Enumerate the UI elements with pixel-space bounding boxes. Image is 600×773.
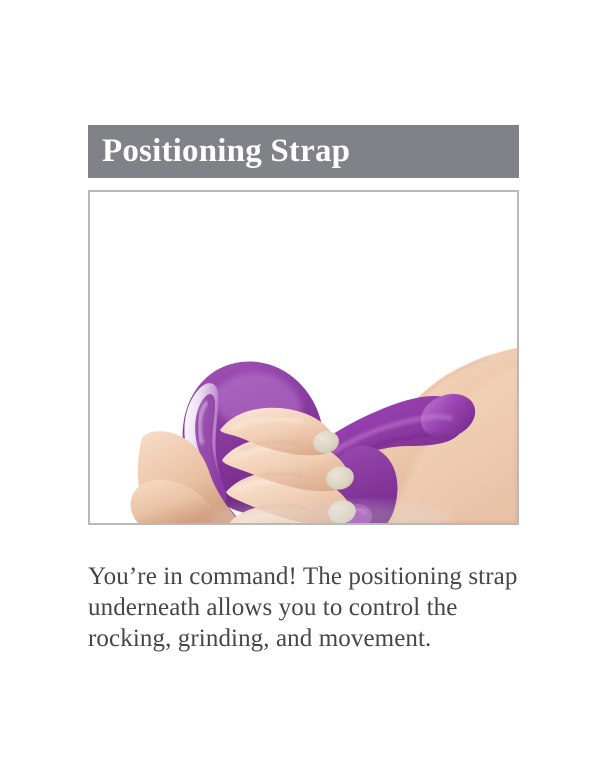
- page-title: Positioning Strap: [88, 135, 350, 168]
- caption-text: You’re in command! The positioning strap…: [88, 561, 524, 654]
- product-photo: [90, 192, 517, 523]
- product-photo-illustration: [90, 192, 517, 523]
- section-title-banner: Positioning Strap: [88, 125, 519, 178]
- product-photo-frame: [88, 190, 519, 525]
- product-info-page: Positioning Strap: [0, 0, 600, 773]
